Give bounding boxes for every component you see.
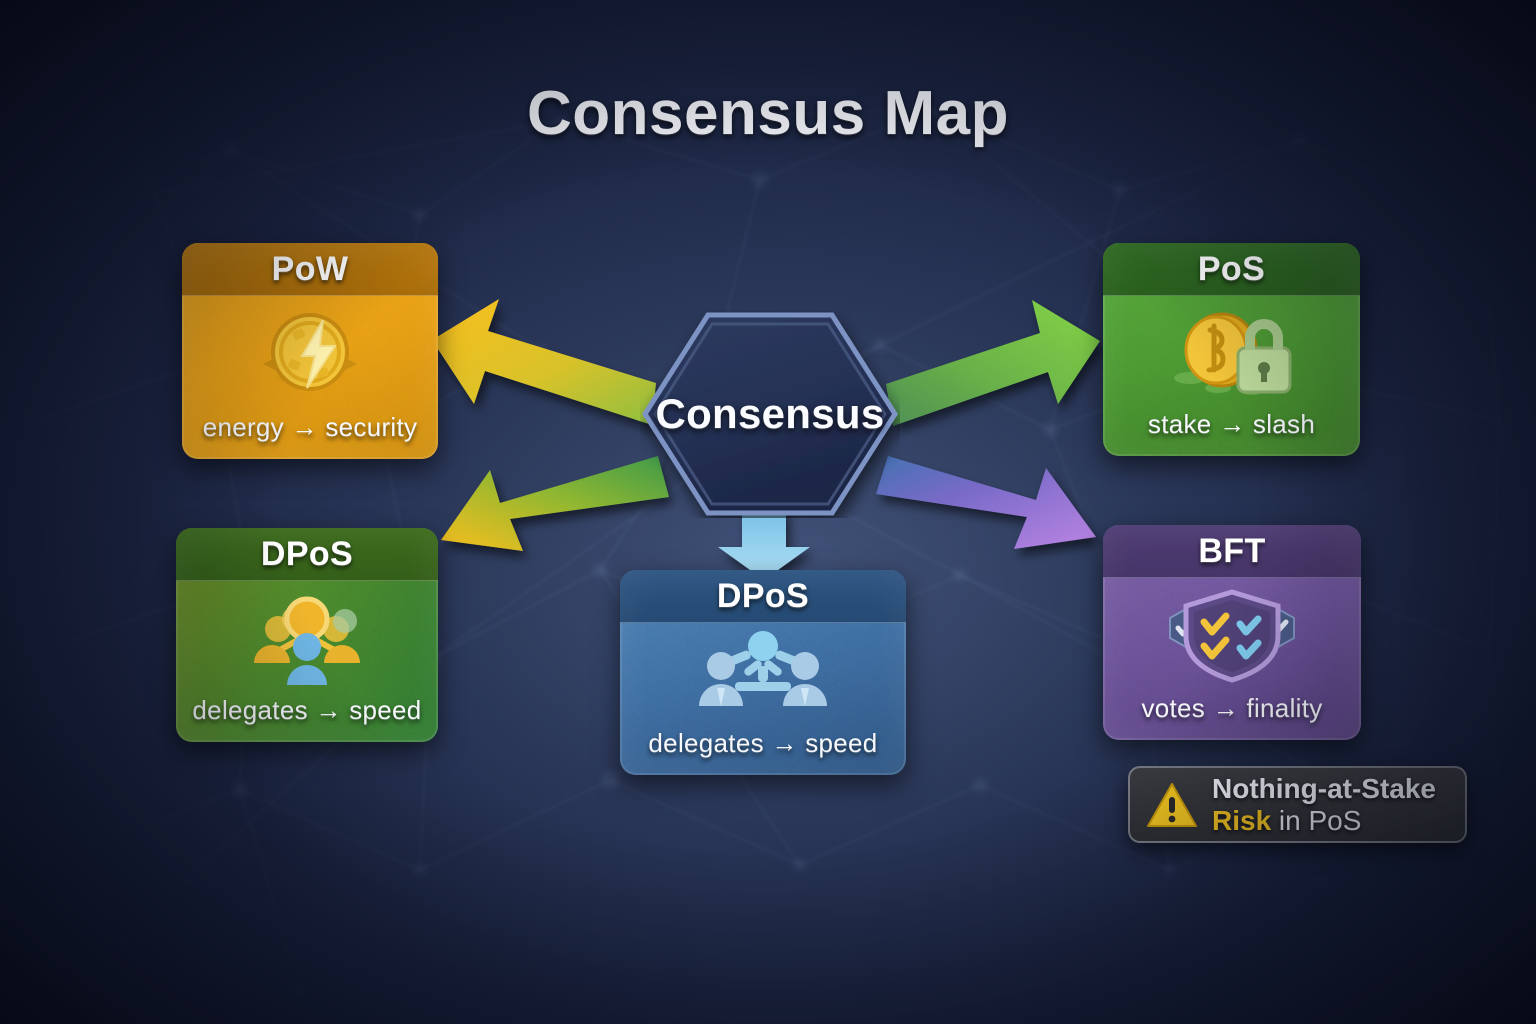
- shield-checks-icon: [1152, 588, 1312, 684]
- warning-highlight: Risk: [1212, 805, 1271, 836]
- card-title: BFT: [1198, 532, 1265, 571]
- center-node-consensus[interactable]: Consensus: [640, 310, 900, 518]
- card-dpos-center[interactable]: DPoS: [620, 570, 906, 775]
- delegate-network-icon: [683, 630, 843, 722]
- page-title: Consensus Map: [0, 78, 1536, 149]
- card-caption: delegates → speed: [176, 695, 438, 742]
- card-dpos-left[interactable]: DPoS delegates → speed: [176, 528, 438, 742]
- warning-rest: in PoS: [1271, 805, 1361, 836]
- card-header: DPoS: [620, 570, 906, 623]
- card-title: PoW: [272, 250, 349, 289]
- card-caption: energy → security: [182, 412, 438, 459]
- coin-lightning-icon: [245, 302, 375, 406]
- warning-badge-nothing-at-stake[interactable]: Nothing-at-Stake Risk in PoS: [1128, 766, 1467, 843]
- card-body: [182, 296, 438, 412]
- card-header: PoW: [182, 243, 438, 296]
- delegate-network-icon: [232, 585, 382, 691]
- center-node-label: Consensus: [640, 310, 900, 518]
- card-caption: delegates → speed: [620, 728, 906, 775]
- card-header: PoS: [1103, 243, 1360, 296]
- card-title: PoS: [1198, 250, 1265, 289]
- card-bft[interactable]: BFT votes → finality: [1103, 525, 1361, 740]
- arrow-to-pos: [886, 300, 1100, 426]
- card-body: [1103, 296, 1360, 409]
- card-title: DPoS: [261, 535, 353, 574]
- card-header: DPoS: [176, 528, 438, 581]
- warning-line-1: Nothing-at-Stake: [1212, 773, 1436, 804]
- card-title: DPoS: [717, 577, 809, 616]
- card-pos[interactable]: PoS stake → slash: [1103, 243, 1360, 456]
- card-header: BFT: [1103, 525, 1361, 578]
- arrow-to-pow: [432, 299, 656, 425]
- warning-triangle-icon: [1146, 781, 1198, 829]
- card-body: [176, 581, 438, 695]
- arrow-to-bft: [876, 456, 1096, 549]
- card-caption: stake → slash: [1103, 409, 1360, 456]
- coin-lock-icon: [1166, 302, 1298, 404]
- arrow-to-dpos-left: [441, 456, 669, 551]
- card-body: [620, 623, 906, 728]
- diagram-canvas: Consensus Map PoW: [0, 0, 1536, 1024]
- card-pow[interactable]: PoW energy → security: [182, 243, 438, 459]
- card-body: [1103, 578, 1361, 693]
- warning-text: Nothing-at-Stake Risk in PoS: [1212, 773, 1436, 836]
- warning-line-2: Risk in PoS: [1212, 805, 1436, 836]
- card-caption: votes → finality: [1103, 693, 1361, 740]
